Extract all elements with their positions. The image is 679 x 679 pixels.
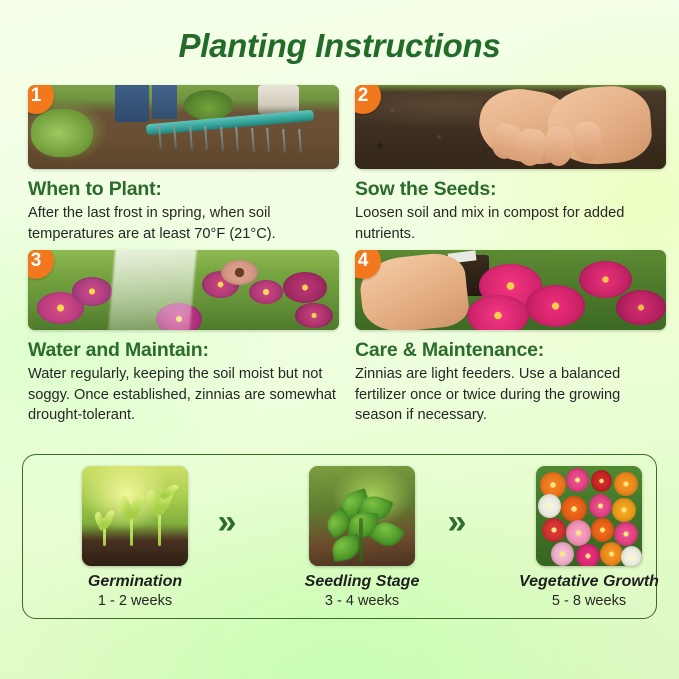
rake-tilling-soil-photo	[28, 85, 339, 169]
watering-zinnias-photo	[28, 250, 339, 330]
colorful-zinnia-blooms-photo	[536, 466, 642, 566]
stage-2-duration: 3 - 4 weeks	[272, 593, 452, 609]
hands-in-soil-photo	[355, 85, 666, 169]
step-card-2: 2 Sow the Seeds: Loosen soil and mix in …	[355, 85, 666, 244]
step-4-body: Zinnias are light feeders. Use a balance…	[355, 364, 666, 426]
step-4-heading: Care & Maintenance:	[355, 339, 666, 362]
step-1-body: After the last frost in spring, when soi…	[28, 203, 339, 244]
stage-2-image	[309, 466, 415, 566]
growth-stage-3: Vegetative Growth 5 - 8 weeks	[499, 466, 679, 609]
chevron-right-icon-1: »	[199, 505, 251, 541]
growth-stage-1: Germination 1 - 2 weeks	[45, 466, 225, 609]
stage-1-name: Germination	[45, 573, 225, 591]
stage-2-name: Seedling Stage	[272, 573, 452, 591]
page-title: Planting Instructions	[0, 27, 679, 65]
hand-holding-pink-zinnias-photo	[355, 250, 666, 330]
stage-3-image	[536, 466, 642, 566]
step-card-3: 3 Water and Maintain: Water regularly, k…	[28, 250, 339, 426]
stage-3-duration: 5 - 8 weeks	[499, 593, 679, 609]
stage-1-image	[82, 466, 188, 566]
stage-3-name: Vegetative Growth	[499, 573, 679, 591]
step-2-body: Loosen soil and mix in compost for added…	[355, 203, 666, 244]
planting-instructions-infographic: Planting Instructions 1	[0, 0, 679, 679]
step-2-image: 2	[355, 85, 666, 169]
chevron-right-icon-2: »	[429, 505, 481, 541]
growth-timeline-panel: Germination 1 - 2 weeks Seedling Stage 3…	[22, 454, 657, 619]
step-3-heading: Water and Maintain:	[28, 339, 339, 362]
stage-1-duration: 1 - 2 weeks	[45, 593, 225, 609]
growth-stage-2: Seedling Stage 3 - 4 weeks	[272, 466, 452, 609]
step-card-4: 4 Care & Maintenance: Zinnias are light …	[355, 250, 666, 426]
step-1-image: 1	[28, 85, 339, 169]
step-3-image: 3	[28, 250, 339, 330]
step-card-1: 1 When to Plant: After the last frost in…	[28, 85, 339, 244]
step-2-heading: Sow the Seeds:	[355, 178, 666, 201]
seedlings-sprouting-photo	[82, 466, 188, 566]
young-green-plant-photo	[309, 466, 415, 566]
step-4-image: 4	[355, 250, 666, 330]
step-3-body: Water regularly, keeping the soil moist …	[28, 364, 339, 426]
step-1-heading: When to Plant:	[28, 178, 339, 201]
